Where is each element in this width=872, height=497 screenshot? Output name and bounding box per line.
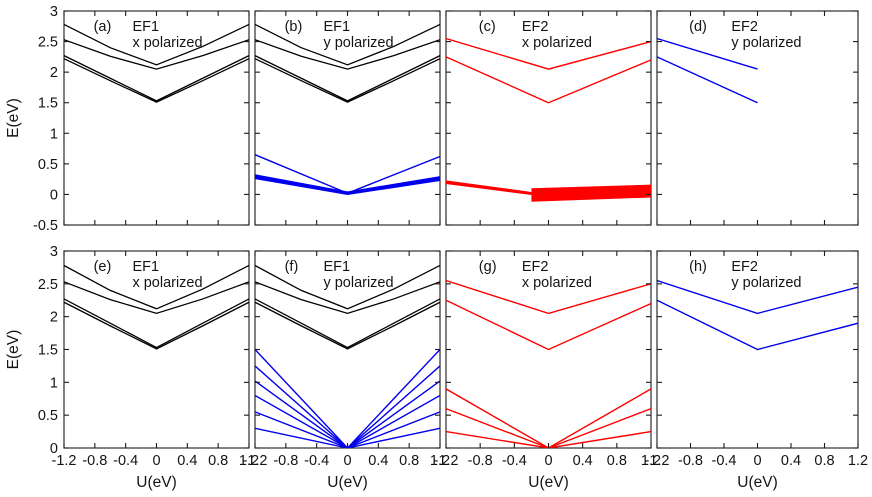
x-tick-label: -0.4 [712,453,737,469]
x-tick-label: 1.2 [848,453,868,469]
x-tick-label: -0.8 [468,453,493,469]
panel-d: (d)EF2y polarized [657,11,858,225]
panel-h: -1.2-0.8-0.400.40.81.2U(eV)(h)EF2y polar… [645,251,869,491]
panel-tag: (b) [285,19,303,35]
x-tick-label: 0 [544,453,552,469]
y-tick-label: 2 [50,65,58,81]
y-tick-label: 3 [50,4,58,20]
x-tick-label: 0 [152,453,160,469]
x-tick-label: 0.8 [399,453,419,469]
x-tick-label: 0 [343,453,351,469]
x-tick-label: 0.4 [177,453,197,469]
panel-name: EF1 [132,19,159,35]
x-tick-label: -0.4 [113,453,138,469]
panel-tag: (c) [479,19,496,35]
y-tick-label: 1 [50,375,58,391]
y-tick-label: -0.5 [33,218,58,234]
panel-tag: (h) [689,259,707,275]
panel-tag: (g) [479,259,497,275]
panel-subtitle: x polarized [522,35,592,51]
x-tick-label: 0 [753,453,761,469]
y-tick-label: 1.5 [38,343,58,359]
x-tick-label: 0.8 [208,453,228,469]
panel-tag: (f) [285,259,299,275]
x-axis-title: U(eV) [528,474,568,491]
panel-subtitle: y polarized [731,275,801,291]
panel-subtitle: y polarized [323,35,393,51]
x-tick-label: -1.2 [434,453,459,469]
x-tick-label: -1.2 [645,453,670,469]
x-tick-label: 0.8 [607,453,627,469]
x-axis-title: U(eV) [737,474,777,491]
panel-name: EF1 [132,259,159,275]
panel-name: EF2 [731,259,758,275]
x-tick-label: -0.4 [502,453,527,469]
panel-name: EF1 [323,259,350,275]
y-tick-label: 0.5 [38,408,58,424]
x-tick-label: -0.8 [678,453,703,469]
y-tick-label: 0 [50,441,58,457]
panel-name: EF2 [522,19,549,35]
x-tick-label: 0.8 [814,453,834,469]
panel-tag: (d) [689,19,707,35]
y-axis-title: E(eV) [5,330,22,370]
y-tick-label: 0.5 [38,157,58,173]
band-structure-figure: -0.500.511.522.53E(eV)(a)EF1x polarized(… [0,0,872,497]
figure-root: -0.500.511.522.53E(eV)(a)EF1x polarized(… [0,0,872,497]
x-tick-label: 0.4 [781,453,801,469]
panel-tag: (e) [94,259,112,275]
y-tick-label: 0 [50,187,58,203]
y-tick-label: 1 [50,126,58,142]
panel-f: -1.2-0.8-0.400.40.81.2U(eV)(f)EF1y polar… [243,251,451,491]
x-tick-label: -0.8 [82,453,107,469]
y-tick-label: 2.5 [38,277,58,293]
y-tick-label: 3 [50,244,58,260]
x-axis-title: U(eV) [136,474,176,491]
panel-name: EF2 [522,259,549,275]
panel-c: (c)EF2x polarized [446,11,651,225]
x-tick-label: -1.2 [243,453,268,469]
x-tick-label: -0.8 [273,453,298,469]
x-tick-label: 0.4 [573,453,593,469]
x-tick-label: -0.4 [304,453,329,469]
panel-name: EF2 [731,19,758,35]
panel-name: EF1 [323,19,350,35]
panel-tag: (a) [94,19,112,35]
y-axis-title: E(eV) [5,98,22,138]
x-axis-title: U(eV) [327,474,367,491]
panel-subtitle: y polarized [323,275,393,291]
panel-subtitle: x polarized [522,275,592,291]
y-tick-label: 2.5 [38,35,58,51]
panel-b: (b)EF1y polarized [255,11,440,225]
panel-subtitle: x polarized [132,35,202,51]
y-tick-label: 1.5 [38,96,58,112]
x-tick-label: 0.4 [368,453,388,469]
panel-subtitle: y polarized [731,35,801,51]
panel-subtitle: x polarized [132,275,202,291]
y-tick-label: 2 [50,310,58,326]
